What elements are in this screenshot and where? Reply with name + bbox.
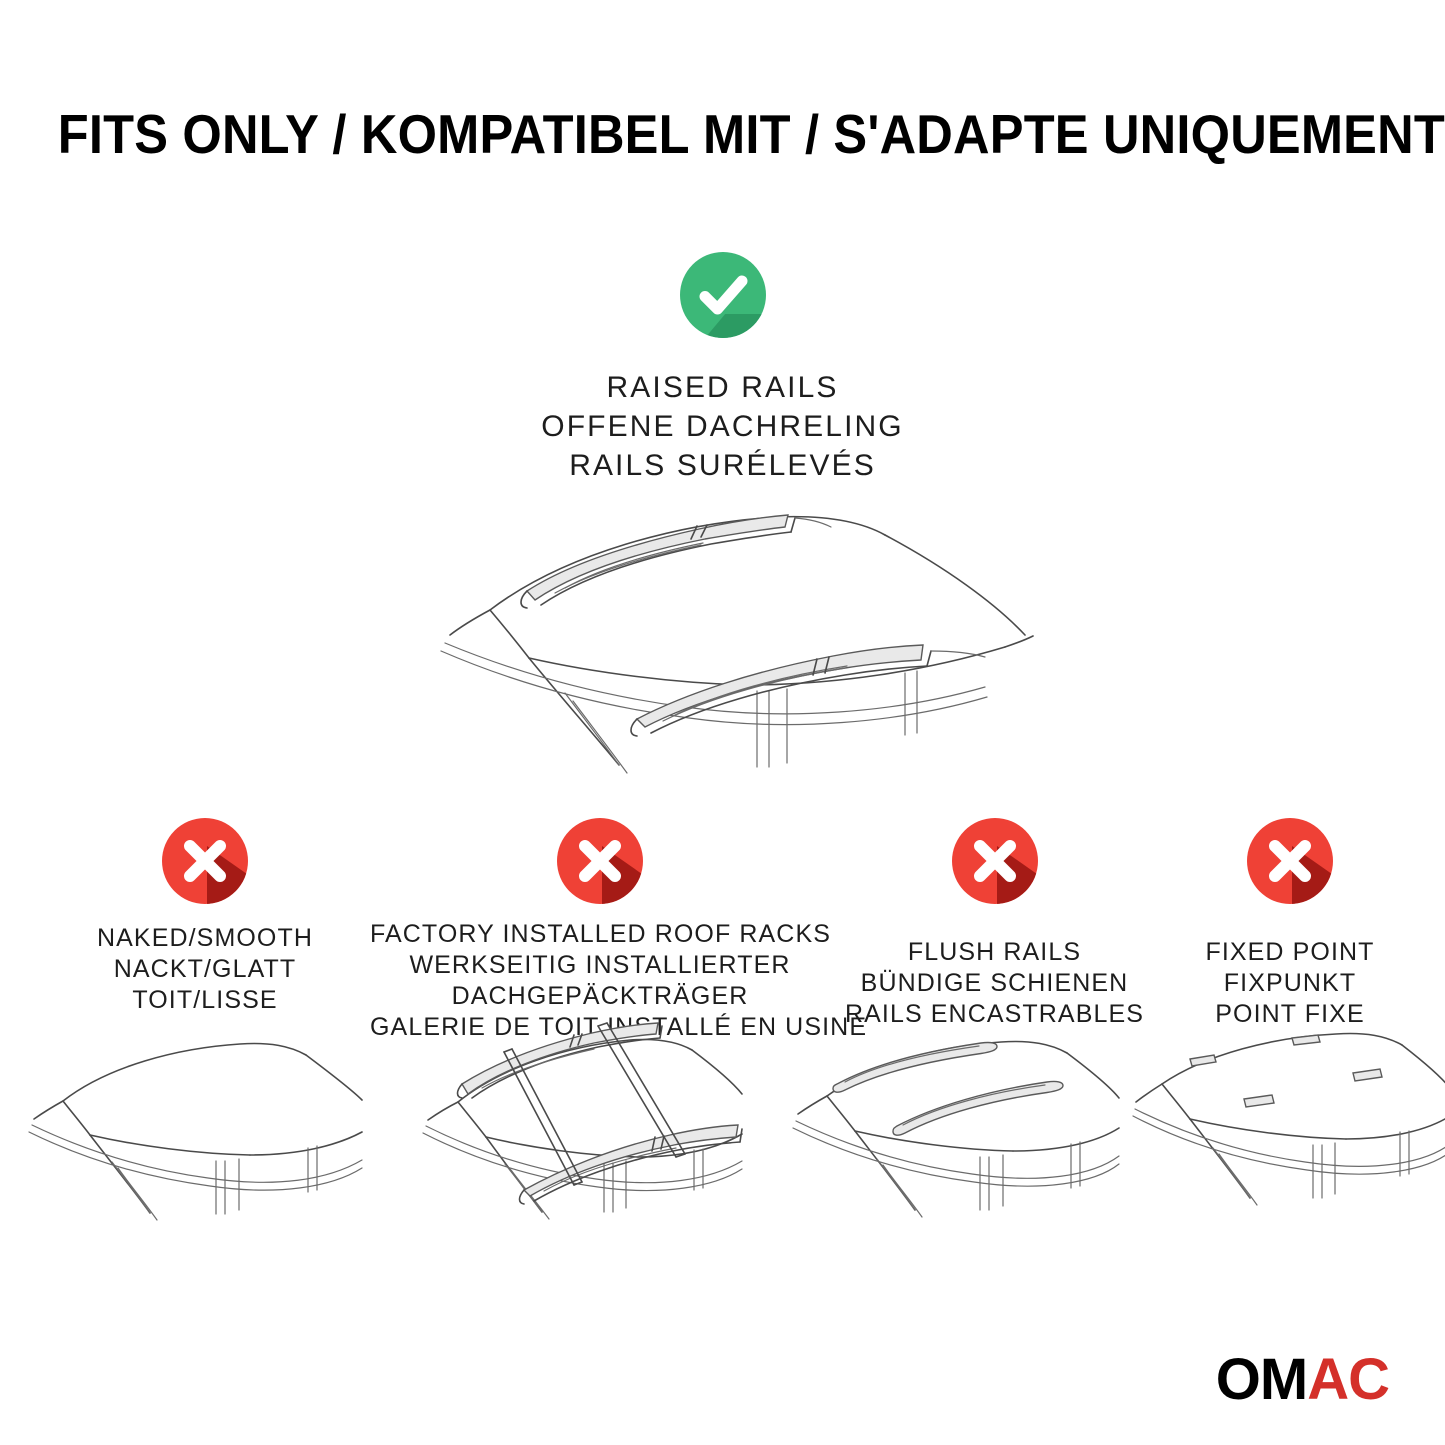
check-mark-glyph <box>680 252 766 338</box>
compatible-label: RAISED RAILS OFFENE DACHRELING RAILS SUR… <box>0 368 1445 485</box>
label-line-1: FLUSH RAILS <box>832 937 1157 968</box>
label-line-3: RAILS ENCASTRABLES <box>832 999 1157 1030</box>
incompatible-label-flush-rails: FLUSH RAILS BÜNDIGE SCHIENEN RAILS ENCAS… <box>832 937 1157 1030</box>
logo-text-dark: OM <box>1216 1347 1307 1412</box>
label-line-2: FIXPUNKT <box>1162 968 1418 999</box>
car-roof-raised-rails-illustration <box>405 495 1055 795</box>
label-line-2: BÜNDIGE SCHIENEN <box>832 968 1157 999</box>
label-line-1: FIXED POINT <box>1162 937 1418 968</box>
fitment-infographic: FITS ONLY / KOMPATIBEL MIT / S'ADAPTE UN… <box>0 0 1445 1445</box>
cross-mark-glyph <box>162 818 248 904</box>
car-roof-flush-rails-illustration <box>775 1028 1120 1253</box>
cross-circle-icon <box>557 818 643 904</box>
label-line-1: NAKED/SMOOTH <box>45 923 365 954</box>
check-circle-icon <box>680 252 766 338</box>
page-title: FITS ONLY / KOMPATIBEL MIT / S'ADAPTE UN… <box>58 104 1387 164</box>
compatible-label-line-1: RAISED RAILS <box>0 368 1445 407</box>
cross-circle-icon <box>162 818 248 904</box>
car-roof-naked-smooth-illustration <box>18 1028 363 1253</box>
car-roof-factory-roof-racks-illustration <box>398 1010 743 1250</box>
incompatible-label-fixed-point: FIXED POINT FIXPUNKT POINT FIXE <box>1162 937 1418 1030</box>
label-line-3: DACHGEPÄCKTRÄGER <box>370 981 830 1012</box>
label-line-3: TOIT/LISSE <box>45 985 365 1016</box>
incompatible-label-naked-smooth: NAKED/SMOOTH NACKT/GLATT TOIT/LISSE <box>45 923 365 1016</box>
cross-circle-icon <box>1247 818 1333 904</box>
compatible-label-line-2: OFFENE DACHRELING <box>0 407 1445 446</box>
label-line-3: POINT FIXE <box>1162 999 1418 1030</box>
incompatible-item-naked-smooth: NAKED/SMOOTH NACKT/GLATT TOIT/LISSE <box>45 818 365 1016</box>
incompatible-item-flush-rails: FLUSH RAILS BÜNDIGE SCHIENEN RAILS ENCAS… <box>832 818 1157 1030</box>
label-line-2: NACKT/GLATT <box>45 954 365 985</box>
omac-logo: OMAC <box>1216 1351 1389 1409</box>
cross-mark-glyph <box>1247 818 1333 904</box>
logo-text-accent: AC <box>1307 1347 1389 1412</box>
compatible-label-line-3: RAILS SURÉLEVÉS <box>0 446 1445 485</box>
car-roof-fixed-point-illustration <box>1132 1028 1445 1253</box>
label-line-1: FACTORY INSTALLED ROOF RACKS <box>370 919 830 950</box>
cross-mark-glyph <box>557 818 643 904</box>
incompatible-item-fixed-point: FIXED POINT FIXPUNKT POINT FIXE <box>1162 818 1418 1030</box>
cross-circle-icon <box>952 818 1038 904</box>
cross-mark-glyph <box>952 818 1038 904</box>
compatible-block: RAISED RAILS OFFENE DACHRELING RAILS SUR… <box>0 252 1445 485</box>
label-line-2: WERKSEITIG INSTALLIERTER <box>370 950 830 981</box>
